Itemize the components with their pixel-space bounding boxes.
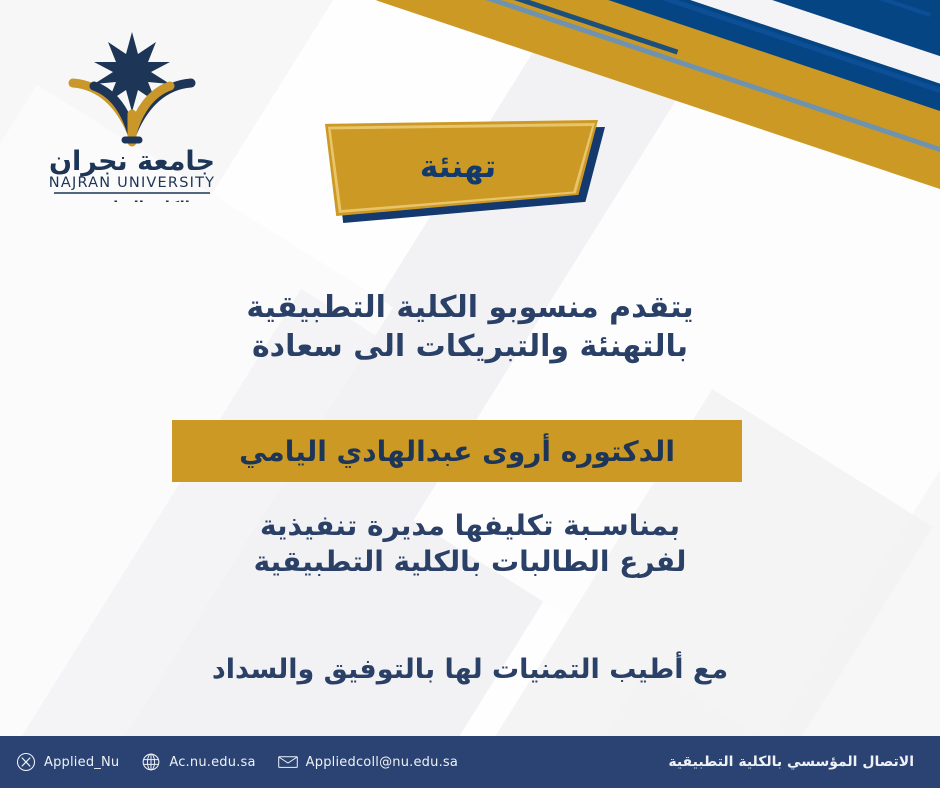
occasion-line-2: لفرع الطالبات بالكلية التطبيقية [40,544,900,580]
occasion-paragraph: بمناسـبة تكليفها مديرة تنفيذية لفرع الطا… [40,508,900,581]
logo-arabic-name: جامعة نجران [49,146,215,177]
decor-white-gap [237,0,940,121]
congratulation-banner: تهنئة [318,120,598,216]
envelope-icon [278,752,298,772]
x-twitter-circle-icon [16,752,36,772]
banner-label: تهنئة [420,149,496,185]
decor-navy-line-upper [266,0,931,17]
background-facet-5 [413,0,940,743]
decor-gold-inner-navy-line [421,0,679,55]
decor-navy-line-lower [216,0,940,136]
intro-line-2: بالتهنئة والتبريكات الى سعادة [40,327,900,366]
honoree-name-band: الدكتوره أروى عبدالهادي اليامي [172,420,742,482]
honoree-name: الدكتوره أروى عبدالهادي اليامي [239,435,675,468]
footer-bar: Applied_Nu Ac.nu.edu.sa Appliedcoll@nu.e… [0,736,940,788]
contact-twitter[interactable]: Applied_Nu [16,752,119,772]
contact-email[interactable]: Appliedcoll@nu.edu.sa [278,752,458,772]
intro-paragraph: يتقدم منسوبو الكلية التطبيقية بالتهنئة و… [40,288,900,366]
najran-university-logo: جامعة نجران NAJRAN UNIVERSITY الكلية الت… [32,22,232,202]
wishes-line-1: مع أطيب التمنيات لها بالتوفيق والسداد [40,652,900,687]
globe-icon [141,752,161,772]
logo-english-name: NAJRAN UNIVERSITY [49,175,215,191]
congratulation-poster: جامعة نجران NAJRAN UNIVERSITY الكلية الت… [0,0,940,788]
occasion-line-1: بمناسـبة تكليفها مديرة تنفيذية [40,508,900,544]
footer-title: الاتصال المؤسسي بالكلية التطبيقية [668,754,940,770]
contact-email-value: Appliedcoll@nu.edu.sa [306,755,458,770]
intro-line-1: يتقدم منسوبو الكلية التطبيقية [40,288,900,327]
logo-college-name: الكلية التطبيقية [74,198,190,202]
contact-website-value: Ac.nu.edu.sa [169,755,255,770]
footer-contacts: Applied_Nu Ac.nu.edu.sa Appliedcoll@nu.e… [0,752,458,772]
contact-website[interactable]: Ac.nu.edu.sa [141,752,255,772]
contact-twitter-value: Applied_Nu [44,755,119,770]
wishes-paragraph: مع أطيب التمنيات لها بالتوفيق والسداد [40,652,900,687]
